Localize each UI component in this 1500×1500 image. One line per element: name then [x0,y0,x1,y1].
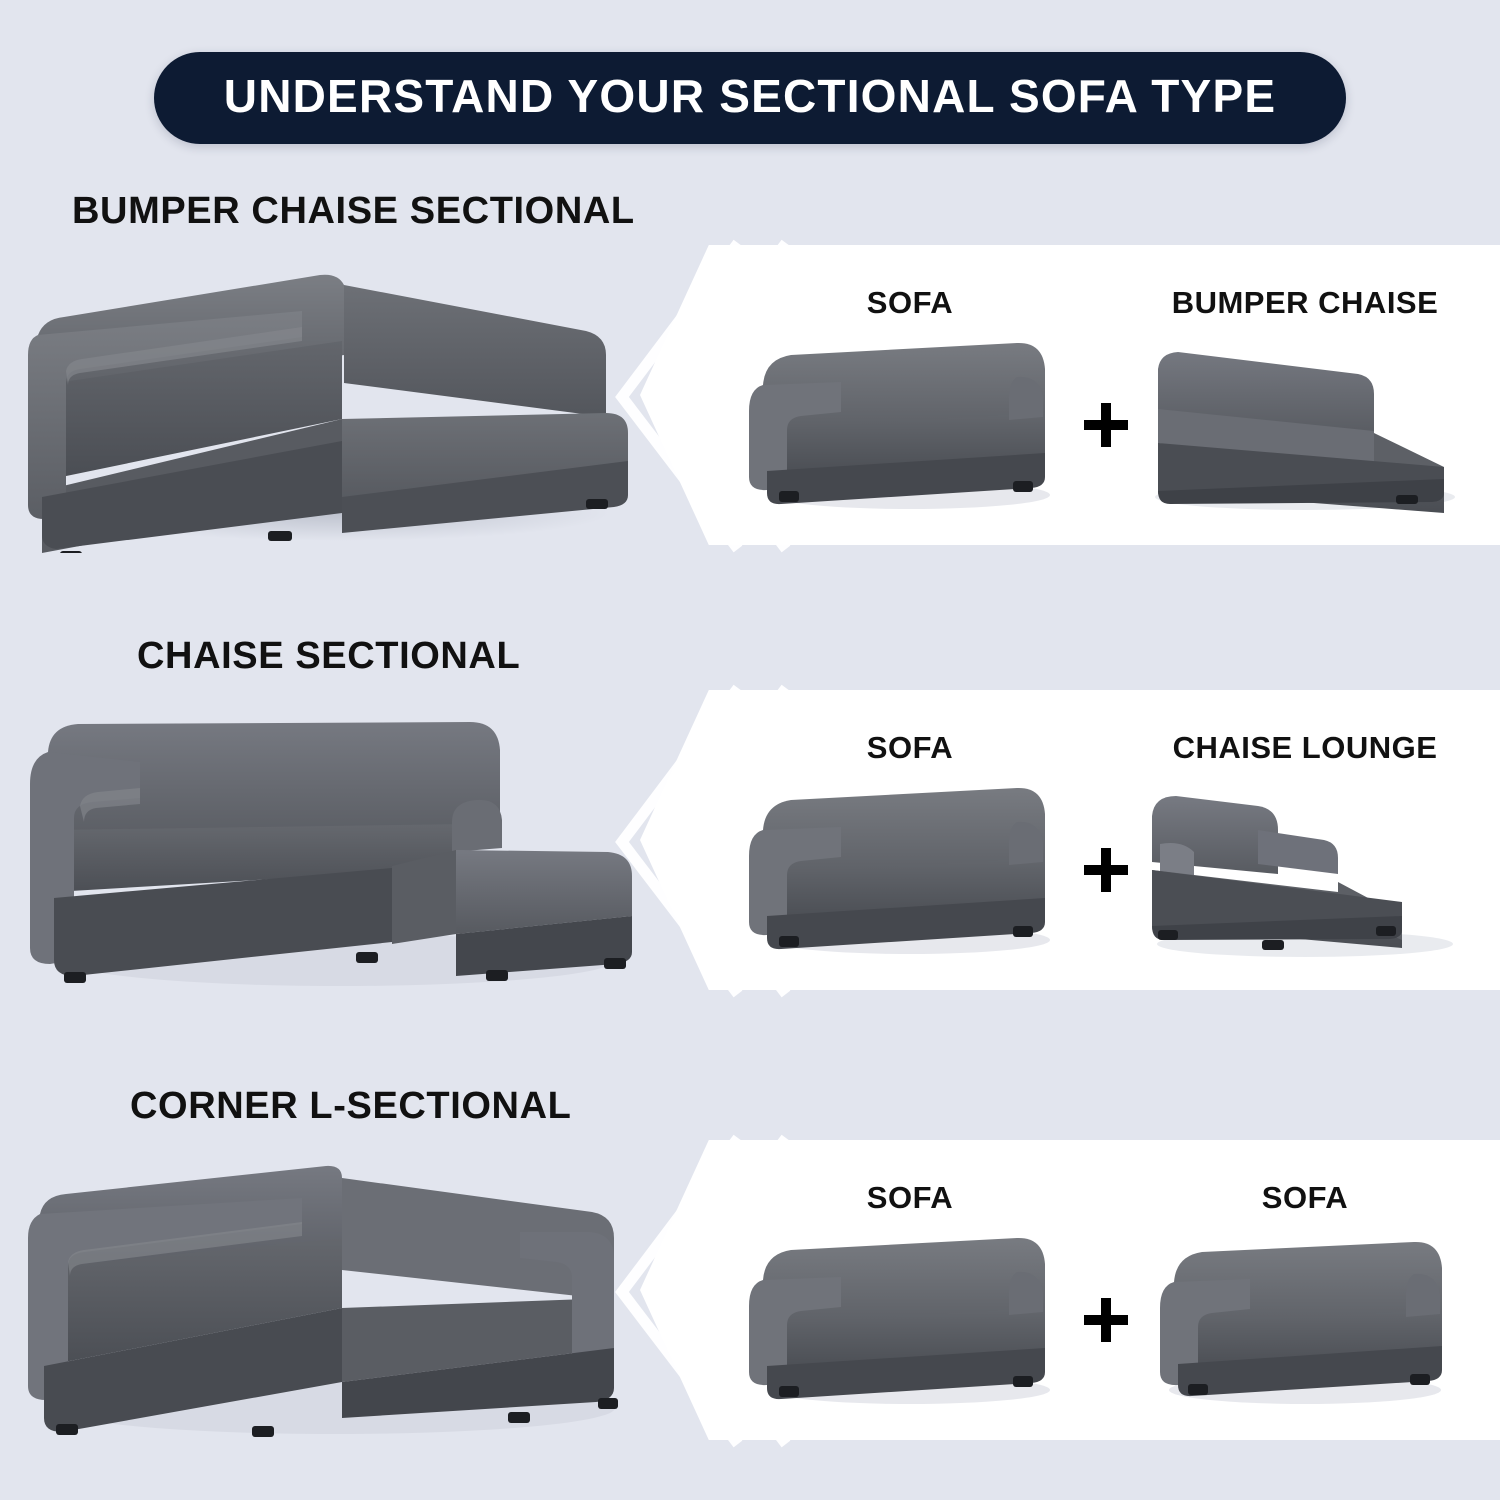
component-sofa: SOFA [745,245,1075,545]
sofa-illustration [745,1228,1075,1408]
infographic-page: UNDERSTAND YOUR SECTIONAL SOFA TYPE BUMP… [0,0,1500,1500]
plus-operator [1076,840,1136,900]
sofa-illustration [745,333,1075,513]
component-label: SOFA [745,1180,1075,1216]
component-label: CHAISE LOUNGE [1130,730,1480,766]
component-label: SOFA [1130,1180,1480,1216]
section-heading: CORNER L-SECTIONAL [130,1085,571,1128]
bumper-chaise-illustration [1130,333,1480,513]
component-chaise-lounge: CHAISE LOUNGE [1130,690,1480,990]
component-label: BUMPER CHAISE [1130,285,1480,321]
component-sofa: SOFA [745,690,1075,990]
sofa-illustration [1130,1228,1480,1408]
sofa-illustration [745,778,1075,958]
plus-operator [1076,1290,1136,1350]
section-bumper-chaise-sectional: BUMPER CHAISE SECTIONAL [0,245,1500,575]
plus-operator [1076,395,1136,455]
section-heading: CHAISE SECTIONAL [137,635,520,678]
component-sofa-right: SOFA [1130,1140,1480,1440]
section-corner-l-sectional: CORNER L-SECTIONAL [0,1140,1500,1470]
component-bumper-chaise: BUMPER CHAISE [1130,245,1480,545]
component-label: SOFA [745,285,1075,321]
hero-bumper-chaise-sectional-illustration [20,263,650,553]
hero-chaise-sectional-illustration [20,708,650,998]
section-heading: BUMPER CHAISE SECTIONAL [72,190,635,233]
hero-corner-l-sectional-illustration [20,1158,650,1448]
title-banner: UNDERSTAND YOUR SECTIONAL SOFA TYPE [0,52,1500,144]
section-chaise-sectional: CHAISE SECTIONAL [0,690,1500,1020]
component-label: SOFA [745,730,1075,766]
component-sofa-left: SOFA [745,1140,1075,1440]
chaise-lounge-illustration [1130,778,1480,958]
page-title: UNDERSTAND YOUR SECTIONAL SOFA TYPE [154,52,1346,144]
